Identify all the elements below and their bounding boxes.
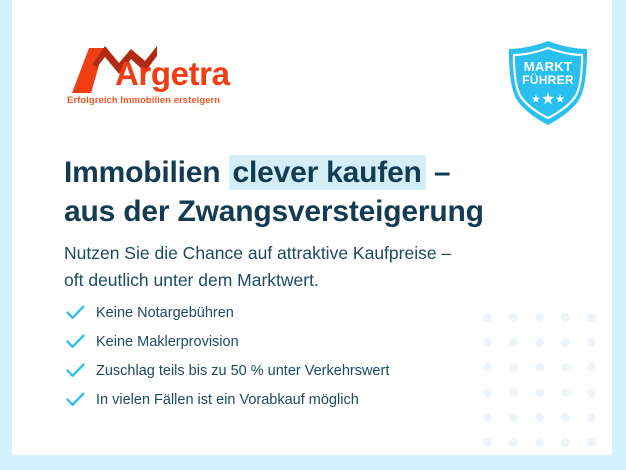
logo-wordmark: Argetra [115,57,230,90]
list-item: Zuschlag teils bis zu 50 % unter Verkehr… [66,356,536,385]
dot [561,363,570,372]
benefits-list: Keine Notargebühren Keine Maklerprovisio… [66,298,536,414]
benefit-label: Keine Maklerprovision [96,334,239,350]
list-item: Keine Maklerprovision [66,327,536,356]
dot [561,338,570,347]
dot [535,438,544,447]
market-leader-badge: MARKT FÜHRER ★★★ [504,40,592,126]
page-title: Immobilien clever kaufen – aus der Zwang… [64,154,584,231]
check-icon [66,391,96,409]
content-card: Argetra Erfolgreich Immobilien ersteiger… [12,0,612,455]
dot [587,338,596,347]
headline-line-2: aus der Zwangsversteigerung [64,193,584,232]
benefit-label: Keine Notargebühren [96,305,234,321]
headline-prefix: Immobilien [64,156,229,189]
headline-line-1: Immobilien clever kaufen – [64,154,584,193]
dot [561,313,570,322]
headline-suffix: – [426,156,451,189]
shield-icon [504,40,592,126]
dot [509,438,518,447]
dot [587,438,596,447]
dot [587,413,596,422]
dot [483,413,492,422]
list-item: Keine Notargebühren [66,298,536,327]
check-icon [66,304,96,322]
check-icon [66,362,96,380]
dot [561,438,570,447]
dot [587,388,596,397]
logo-tagline: Erfolgreich Immobilien ersteigern [67,95,220,106]
subheadline-line-2: oft deutlich unter dem Marktwert. [64,267,584,294]
dot [587,363,596,372]
promo-banner: Argetra Erfolgreich Immobilien ersteiger… [0,0,626,470]
benefit-label: Zuschlag teils bis zu 50 % unter Verkehr… [96,363,389,379]
benefit-label: In vielen Fällen ist ein Vorabkauf mögli… [96,392,359,408]
argetra-logo[interactable]: Argetra Erfolgreich Immobilien ersteiger… [67,45,267,115]
dot [483,438,492,447]
dot [509,413,518,422]
subheadline: Nutzen Sie die Chance auf attraktive Kau… [64,240,584,294]
dot [535,413,544,422]
dot [561,413,570,422]
dot [561,388,570,397]
list-item: In vielen Fällen ist ein Vorabkauf mögli… [66,385,536,414]
subheadline-line-1: Nutzen Sie die Chance auf attraktive Kau… [64,240,584,267]
check-icon [66,333,96,351]
dot [587,313,596,322]
headline-highlight: clever kaufen [229,155,426,190]
